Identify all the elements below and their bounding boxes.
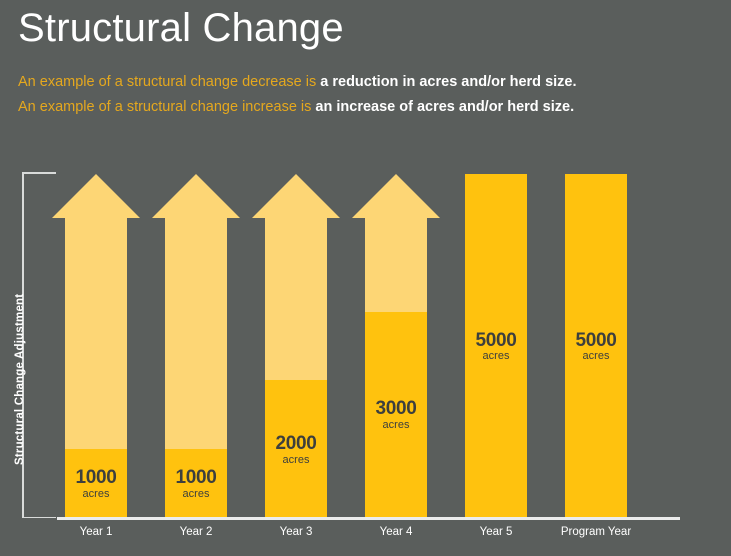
bar-segment-actual-acres [65,449,127,518]
subtitle-line-increase: An example of a structural change increa… [18,99,574,115]
bar-group-year-4: 3000acres [365,218,427,518]
plot-area: 1000acres1000acres2000acres3000acres5000… [0,160,731,556]
x-tick-label-year-1: Year 1 [41,526,151,538]
bar-segment-actual-acres [265,380,327,518]
x-tick-label-program-year: Program Year [541,526,651,538]
bar-arrowhead-up-icon [352,174,440,218]
bar-group-year-2: 1000acres [165,218,227,518]
bar-segment-actual-acres [165,449,227,518]
x-tick-label-year-5: Year 5 [441,526,551,538]
bar-group-year-5: 5000acres [465,174,527,518]
subtitle-lead-increase: An example of a structural change increa… [18,99,311,115]
bar-arrowhead-up-icon [152,174,240,218]
subtitle-emphasis-decrease: a reduction in acres and/or herd size. [320,74,576,90]
bar-arrowhead-up-icon [252,174,340,218]
x-tick-label-year-4: Year 4 [341,526,451,538]
bar-segment-actual-acres [365,312,427,518]
bar-group-year-3: 2000acres [265,218,327,518]
x-tick-label-year-2: Year 2 [141,526,251,538]
x-axis-line [57,517,680,520]
subtitle-emphasis-increase: an increase of acres and/or herd size. [315,99,574,115]
page-title: Structural Change [18,6,344,51]
bar-arrowhead-up-icon [52,174,140,218]
x-tick-label-year-3: Year 3 [241,526,351,538]
bar-group-program-year: 5000acres [565,174,627,518]
bar-segment-actual-acres [565,174,627,518]
structural-change-bar-chart: Structural Change Adjustment 1000acres10… [0,160,731,556]
bar-group-year-1: 1000acres [65,218,127,518]
subtitle-line-decrease: An example of a structural change decrea… [18,74,577,90]
bar-segment-actual-acres [465,174,527,518]
subtitle-lead-decrease: An example of a structural change decrea… [18,74,316,90]
